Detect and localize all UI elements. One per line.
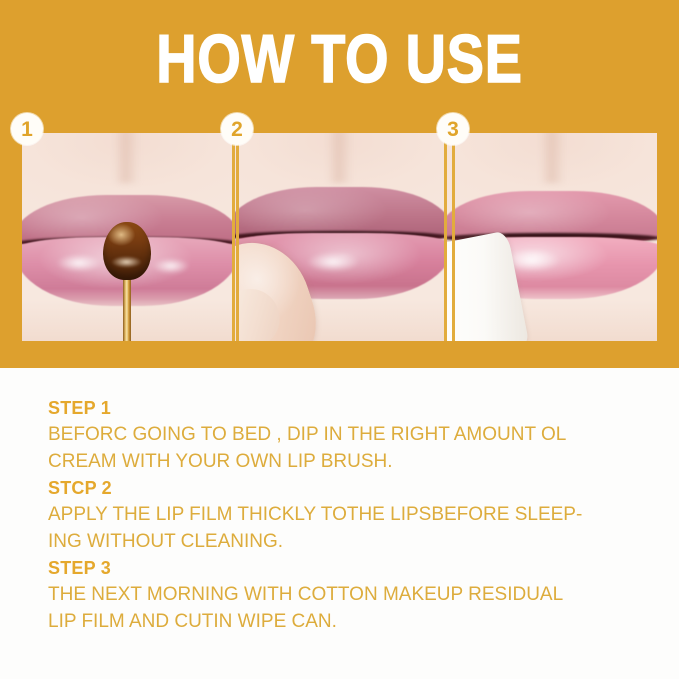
lips-photo-with-applicator — [22, 133, 232, 341]
lip-highlight — [56, 254, 102, 273]
philtrum-shadow — [327, 133, 352, 183]
step-image-2 — [235, 133, 445, 341]
lip-highlight-right — [152, 258, 190, 275]
step-badge-1-label: 1 — [21, 119, 33, 140]
philtrum-shadow — [114, 133, 139, 183]
badge-stem-3 — [452, 129, 455, 341]
philtrum-shadow — [540, 133, 565, 183]
how-to-use-infographic: HOW TO USE — [0, 0, 679, 679]
step-1-body: BEFORC GOING TO BED , DIP IN THE RIGHT A… — [48, 421, 648, 475]
step-3-heading: STEP 3 — [48, 555, 648, 581]
step-image-1 — [22, 133, 232, 341]
step-2-body: APPLY THE LIP FILM THICKLY TOTHE LIPSBEF… — [48, 501, 648, 555]
lips-photo-with-finger — [235, 133, 445, 341]
step-2-heading: STCP 2 — [48, 475, 648, 501]
page-title: HOW TO USE — [61, 24, 618, 94]
step-badge-3: 3 — [437, 113, 469, 145]
step-badge-2: 2 — [221, 113, 253, 145]
steps-text-block: STEP 1 BEFORC GOING TO BED , DIP IN THE … — [48, 395, 648, 635]
lips-photo-with-cotton-pad — [447, 133, 657, 341]
badge-stem-2 — [236, 129, 239, 341]
step-3-body: THE NEXT MORNING WITH COTTON MAKEUP RESI… — [48, 581, 648, 635]
step-1-heading: STEP 1 — [48, 395, 648, 421]
step-badge-3-label: 3 — [447, 119, 459, 140]
fingernail — [235, 277, 291, 341]
applicator-bead-tip — [103, 222, 151, 280]
step-badge-2-label: 2 — [231, 119, 243, 140]
step-badge-1: 1 — [11, 113, 43, 145]
step-image-3 — [447, 133, 657, 341]
photo-strip — [22, 133, 657, 341]
